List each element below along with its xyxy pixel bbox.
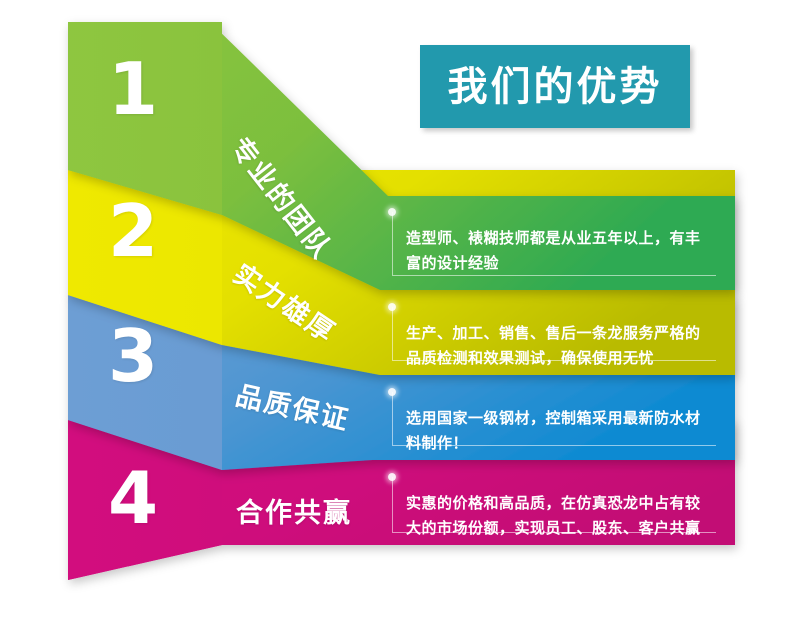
detail-panel-3: 选用国家一级钢材，控制箱采用最新防水材料制作！: [378, 378, 734, 458]
bullet-dot-icon: [388, 303, 396, 311]
bullet-dot-icon: [388, 388, 396, 396]
detail-panel-4: 实惠的价格和高品质，在仿真恐龙中占有较大的市场份额，实现员工、股东、客户共赢: [378, 463, 734, 545]
detail-panel-1: 造型师、裱糊技师都是从业五年以上，有丰富的设计经验: [378, 198, 734, 288]
bullet-dot-icon: [388, 208, 396, 216]
detail-text-1: 造型师、裱糊技师都是从业五年以上，有丰富的设计经验: [406, 226, 708, 276]
infographic-canvas: 我们的优势 1 2 3 4 专业的团队 实力雄厚 品质保证 合作共赢 造型师、裱…: [0, 0, 800, 622]
page-title: 我们的优势: [448, 67, 663, 107]
bullet-dot-icon: [388, 473, 396, 481]
detail-text-3: 选用国家一级钢材，控制箱采用最新防水材料制作！: [406, 406, 708, 456]
detail-text-4: 实惠的价格和高品质，在仿真恐龙中占有较大的市场份额，实现员工、股东、客户共赢: [406, 491, 708, 541]
page-title-box: 我们的优势: [420, 45, 690, 128]
detail-text-2: 生产、加工、销售、售后一条龙服务严格的品质检测和效果测试，确保使用无忧: [406, 321, 708, 371]
detail-panel-2: 生产、加工、销售、售后一条龙服务严格的品质检测和效果测试，确保使用无忧: [378, 293, 734, 373]
